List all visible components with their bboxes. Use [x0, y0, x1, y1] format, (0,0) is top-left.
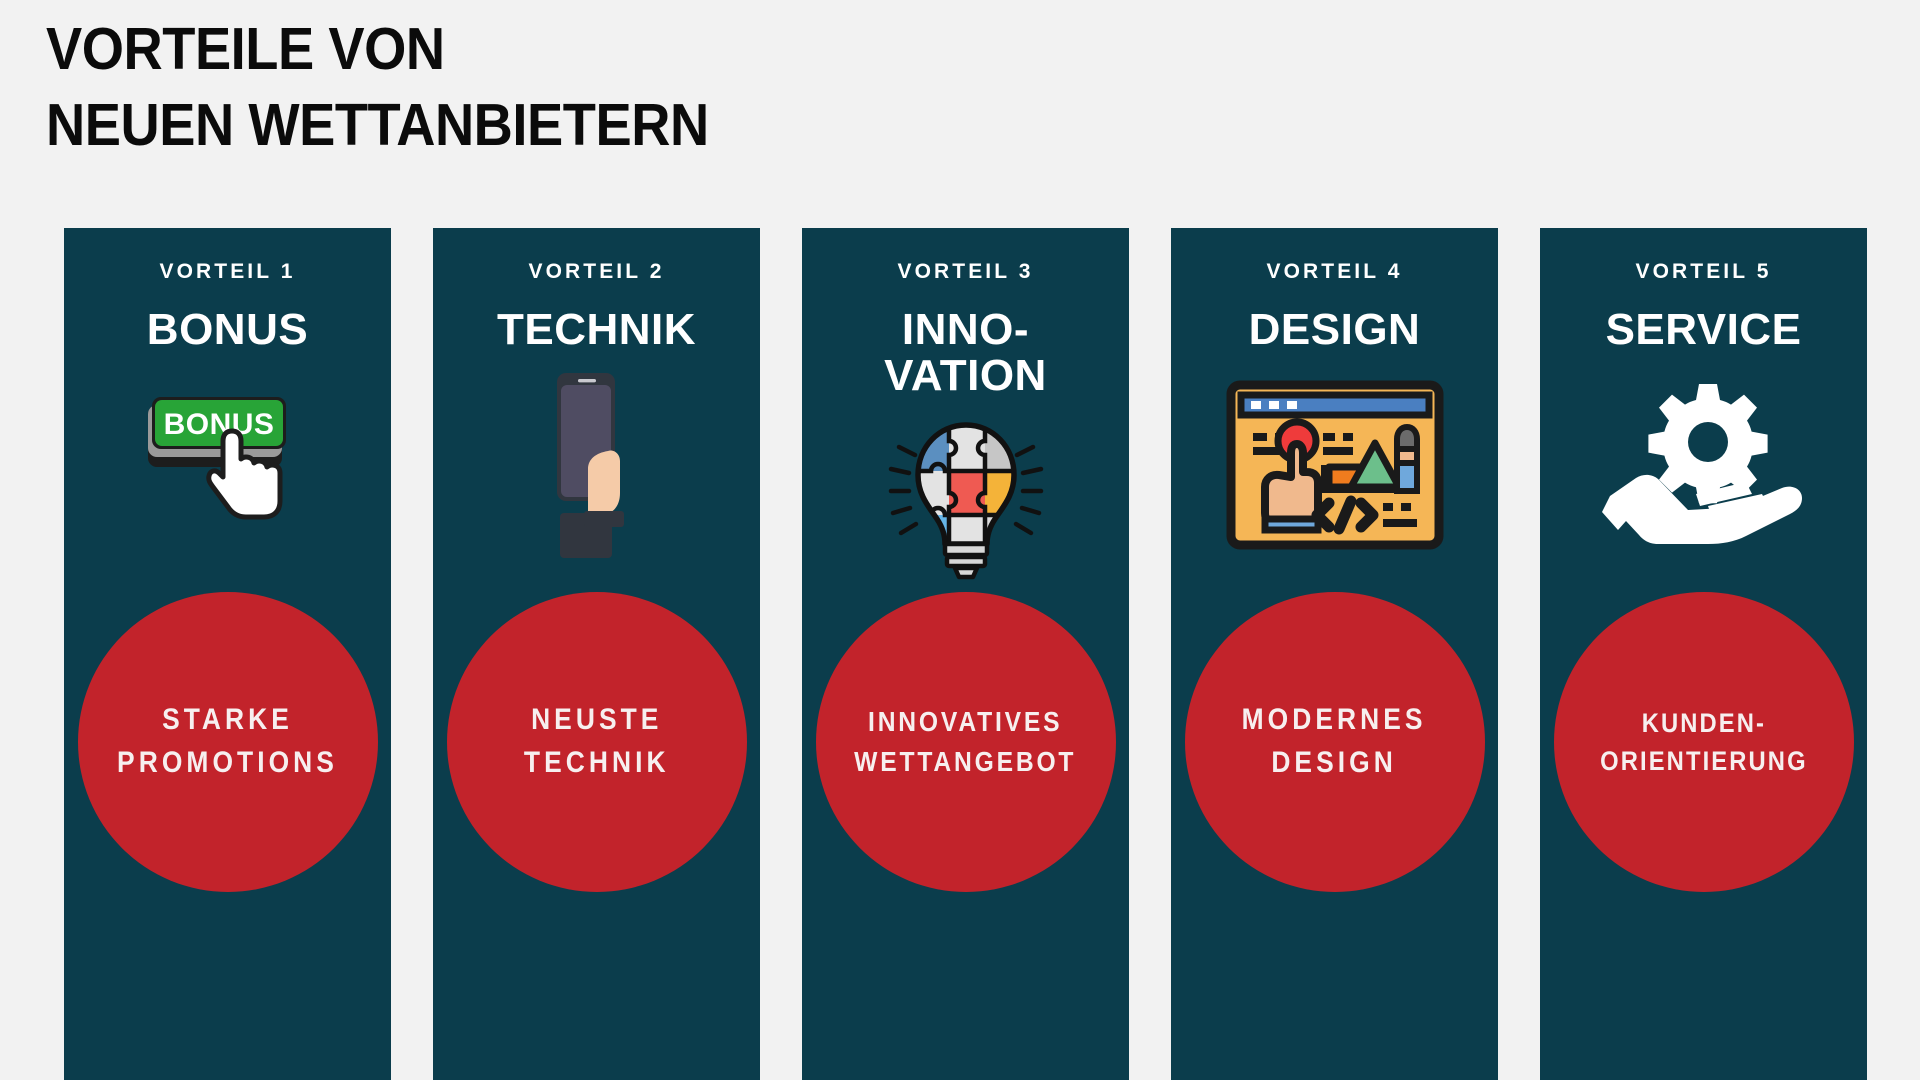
page-title-line-2: NEUEN WETTANBIETERN [46, 88, 1058, 164]
gear-on-hand-icon [1540, 371, 1867, 559]
benefit-circle: MODERNES DESIGN [1185, 592, 1485, 892]
benefit-card-design[interactable]: VORTEIL 4 DESIGN [1171, 228, 1498, 1080]
benefit-circle-label: NEUSTE TECHNIK [524, 699, 670, 784]
page-title: VORTEILE VON NEUEN WETTANBIETERN [46, 12, 1146, 163]
card-heading: TECHNIK [497, 307, 696, 353]
benefit-circle: STARKE PROMOTIONS [78, 592, 378, 892]
benefit-circle: NEUSTE TECHNIK [447, 592, 747, 892]
benefit-card-bonus[interactable]: VORTEIL 1 BONUS BONUS STARKE PROMOTIONS [64, 228, 391, 1080]
benefit-card-list: VORTEIL 1 BONUS BONUS STARKE PROMOTIONS … [0, 228, 1920, 1080]
smartphone-in-hand-icon [433, 371, 760, 559]
benefit-circle-label: MODERNES DESIGN [1242, 699, 1427, 784]
card-heading: DESIGN [1249, 307, 1421, 353]
benefit-circle-label: KUNDEN- ORIENTIERUNG [1600, 704, 1808, 781]
design-browser-window-icon [1171, 371, 1498, 559]
svg-text:BONUS: BONUS [163, 408, 274, 441]
card-heading: INNO- VATION [884, 307, 1047, 399]
card-heading: SERVICE [1606, 307, 1802, 353]
lightbulb-puzzle-icon [802, 403, 1129, 591]
page-title-line-1: VORTEILE VON [46, 12, 1058, 88]
benefit-card-innovation[interactable]: VORTEIL 3 INNO- VATION [802, 228, 1129, 1080]
card-eyebrow: VORTEIL 5 [1635, 261, 1771, 282]
bonus-button-click-icon: BONUS [64, 371, 391, 559]
card-heading: BONUS [147, 307, 308, 353]
card-eyebrow: VORTEIL 4 [1266, 261, 1402, 282]
benefit-circle-label: INNOVATIVES WETTANGEBOT [854, 702, 1076, 782]
card-eyebrow: VORTEIL 3 [897, 261, 1033, 282]
benefit-card-technik[interactable]: VORTEIL 2 TECHNIK NEUSTE TECHNIK [433, 228, 760, 1080]
card-eyebrow: VORTEIL 1 [159, 261, 295, 282]
benefit-circle: KUNDEN- ORIENTIERUNG [1554, 592, 1854, 892]
benefit-circle: INNOVATIVES WETTANGEBOT [816, 592, 1116, 892]
benefit-circle-label: STARKE PROMOTIONS [117, 699, 338, 784]
card-eyebrow: VORTEIL 2 [528, 261, 664, 282]
benefit-card-service[interactable]: VORTEIL 5 SERVICE KUNDEN- ORIENTIERUNG [1540, 228, 1867, 1080]
